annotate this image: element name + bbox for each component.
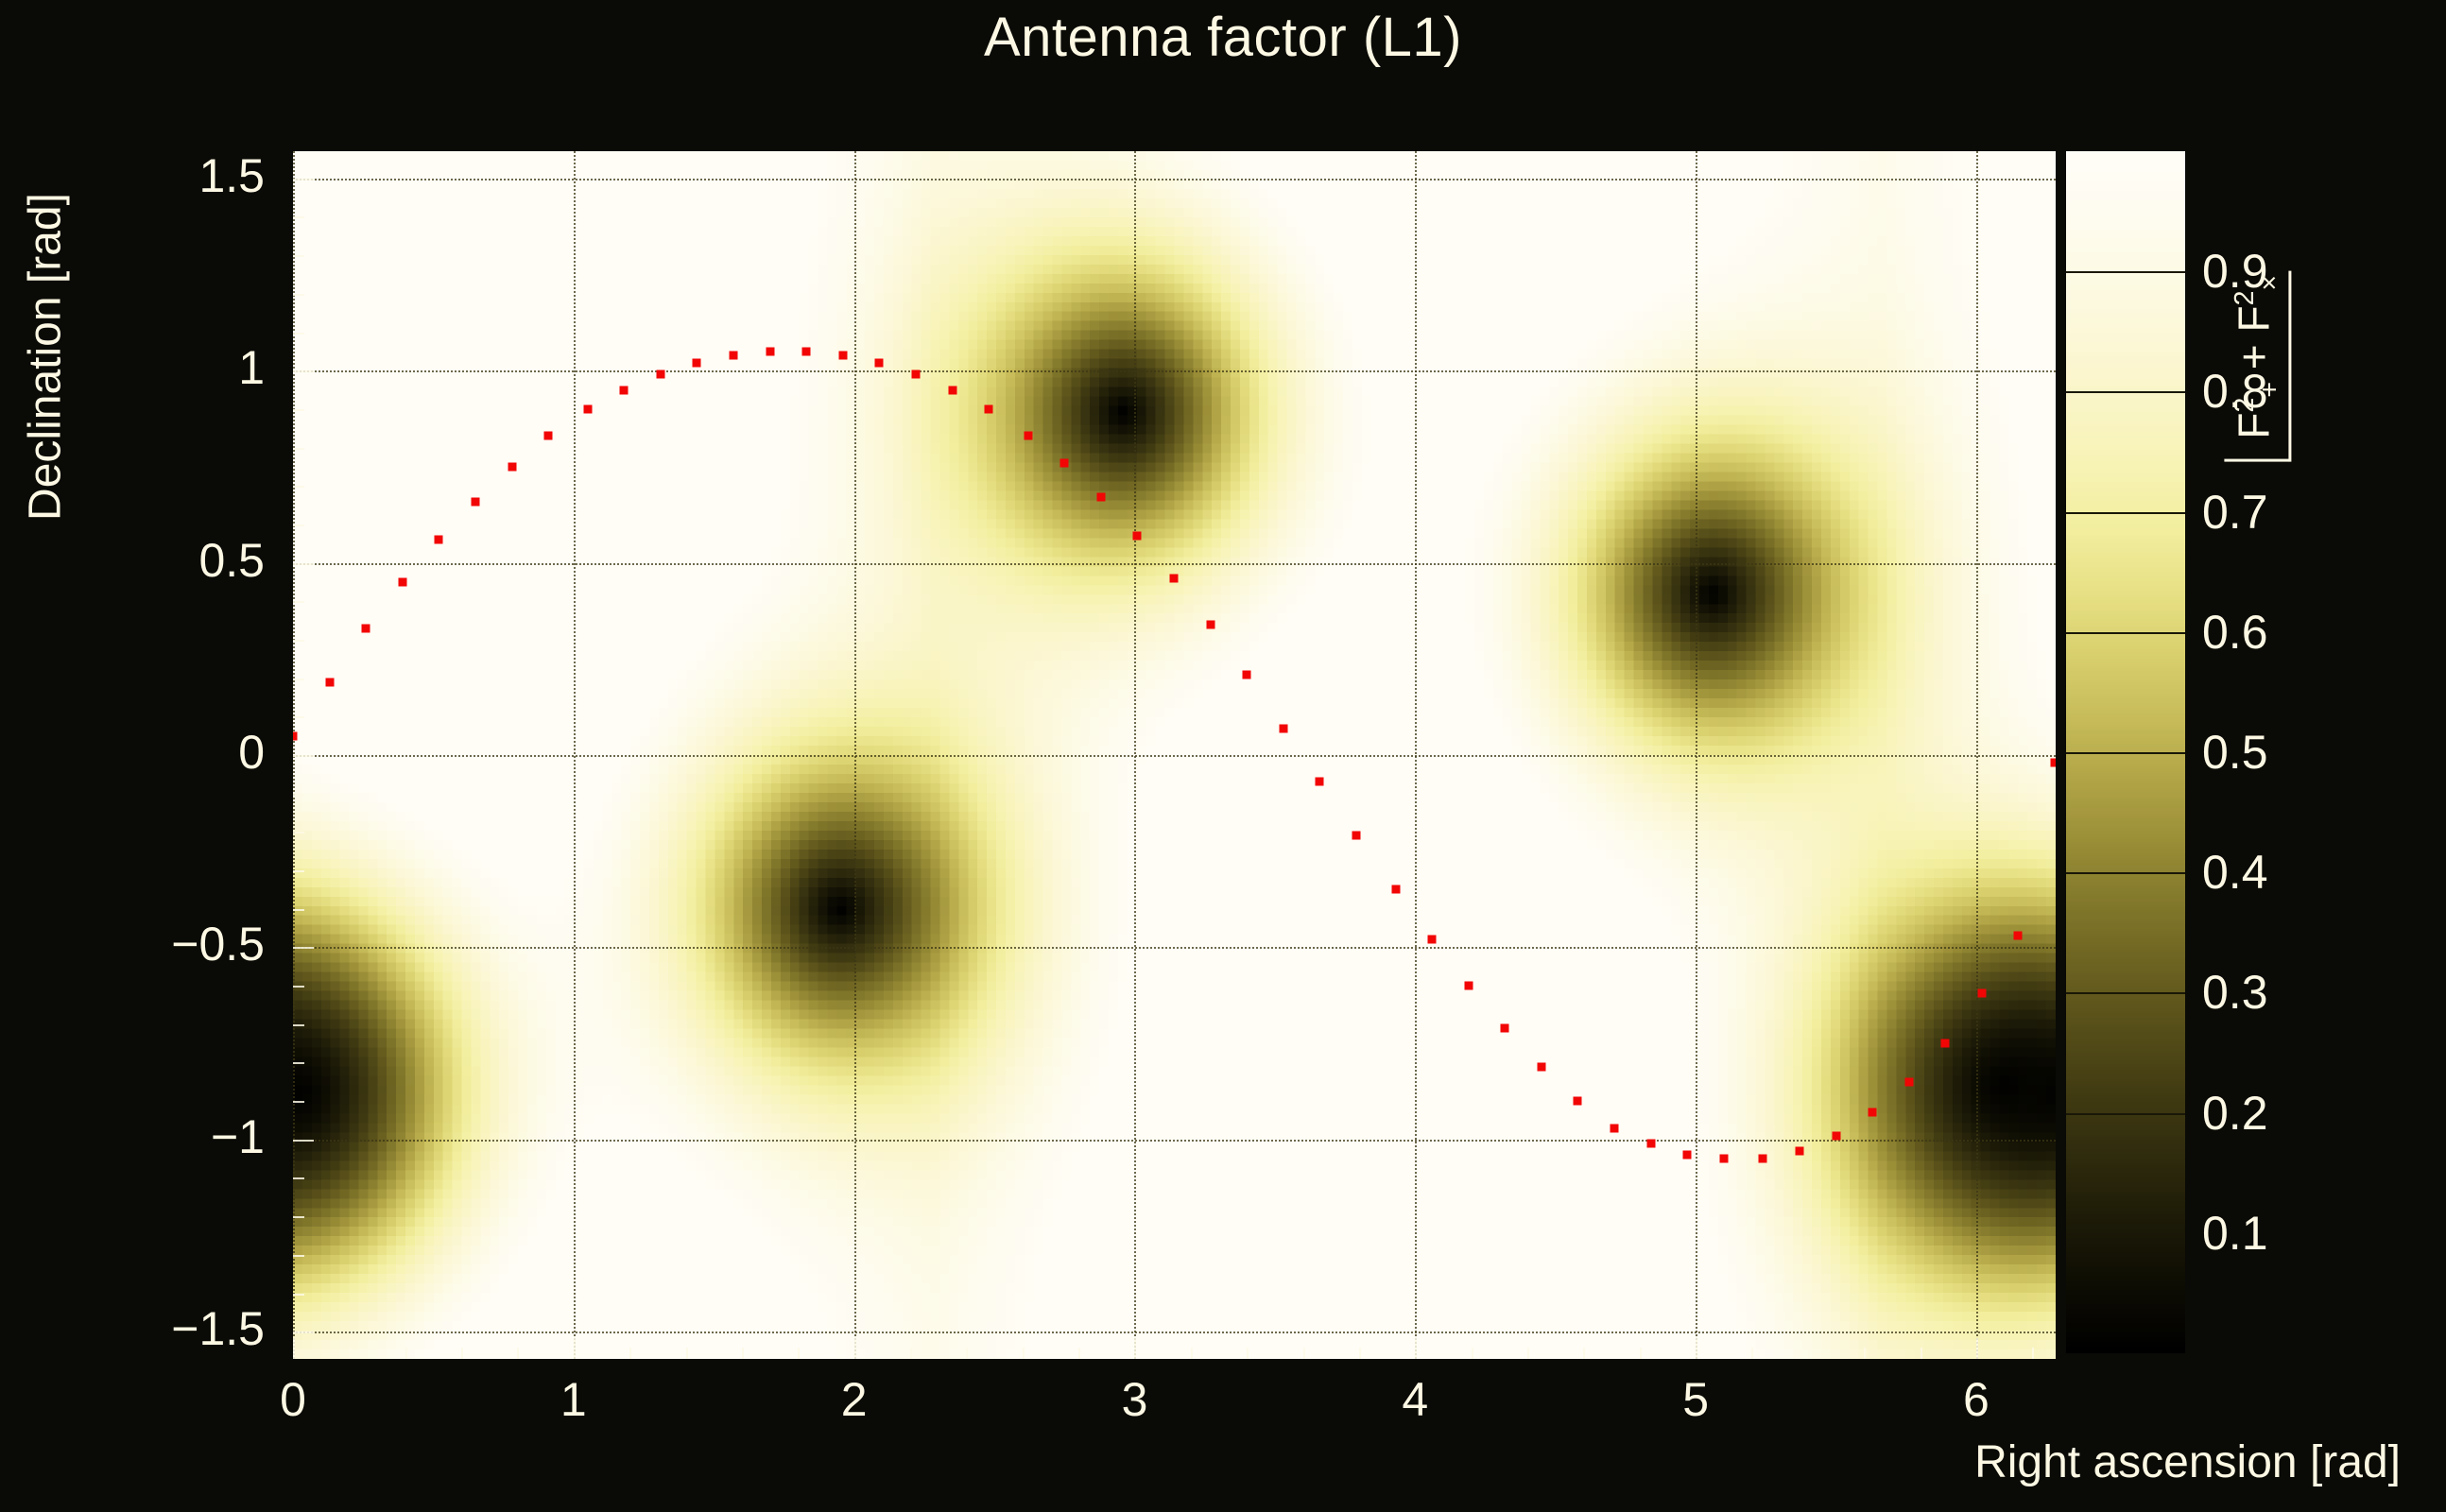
y-tick-minor (293, 1255, 304, 1257)
y-tick-minor (293, 255, 304, 257)
f-cross-subscript: × (2255, 275, 2285, 291)
curve-point-marker (1683, 1151, 1692, 1160)
curve-point-marker (1096, 493, 1105, 502)
curve-point-marker (1501, 1023, 1509, 1032)
y-tick-minor (293, 1101, 304, 1103)
curve-point-marker (1428, 936, 1437, 944)
y-tick-minor (293, 716, 304, 718)
x-tick-minor (1808, 1348, 1810, 1359)
curve-point-marker (398, 577, 406, 586)
x-tick-minor (1078, 1348, 1080, 1359)
curve-point-marker (471, 497, 479, 506)
curve-point-marker (1869, 1108, 1877, 1117)
x-tick-minor (1527, 1348, 1529, 1359)
x-tick-minor (1640, 1348, 1642, 1359)
curve-point-marker (693, 359, 701, 368)
x-tick-minor (1247, 1348, 1249, 1359)
curve-point-marker (730, 351, 738, 359)
x-tick-major (854, 1338, 856, 1359)
x-tick-minor (2032, 1348, 2034, 1359)
y-axis-title: Declination [rad] (20, 112, 72, 603)
x-tick-minor (686, 1348, 688, 1359)
curve-point-marker (1646, 1139, 1655, 1147)
colorbar-tick (2066, 512, 2185, 514)
curve-point-marker (875, 359, 884, 368)
colorbar-tick-label: 0.6 (2202, 605, 2268, 660)
curve-point-marker (656, 370, 664, 379)
colorbar-tick (2066, 1113, 2185, 1115)
x-axis-tick-label: 2 (798, 1372, 911, 1427)
y-axis-tick-label: −1 (76, 1109, 265, 1164)
curve-point-marker (1060, 458, 1069, 467)
y-tick-major (293, 755, 314, 757)
curve-point-marker (2051, 759, 2056, 767)
curve-point-marker (1611, 1124, 1619, 1132)
x-tick-major (1134, 1338, 1136, 1359)
curve-point-marker (1537, 1062, 1545, 1071)
x-tick-minor (966, 1348, 968, 1359)
colorbar-tick-label: 0.7 (2202, 485, 2268, 540)
curve-point-marker (1719, 1155, 1728, 1163)
y-tick-minor (293, 1177, 304, 1179)
y-tick-minor (293, 409, 304, 411)
x-tick-minor (349, 1348, 351, 1359)
curve-point-marker (1133, 532, 1142, 541)
y-axis-tick-label: 0.5 (76, 533, 265, 588)
x-tick-major (1976, 1338, 1978, 1359)
colorbar-tick-label: 0.4 (2202, 845, 2268, 900)
curve-point-marker (1759, 1155, 1767, 1163)
x-tick-minor (629, 1348, 631, 1359)
x-tick-minor (1751, 1348, 1753, 1359)
colorbar-tick (2066, 632, 2185, 634)
x-axis-tick-label: 4 (1358, 1372, 1472, 1427)
curve-point-marker (802, 347, 811, 355)
curve-point-marker (985, 404, 993, 413)
f-plus-exponent: 2 (2230, 398, 2260, 413)
x-tick-minor (1303, 1348, 1305, 1359)
x-tick-minor (1359, 1348, 1361, 1359)
y-tick-minor (293, 679, 304, 680)
y-tick-minor (293, 986, 304, 988)
x-tick-major (1696, 1338, 1697, 1359)
y-axis-tick-label: 1 (76, 340, 265, 395)
curve-point-marker (620, 386, 629, 394)
curve-point-marker (293, 731, 298, 740)
y-axis-tick-label: −0.5 (76, 917, 265, 971)
colorbar-tick (2066, 992, 2185, 994)
y-tick-minor (293, 1062, 304, 1064)
x-tick-minor (1864, 1348, 1866, 1359)
f-cross-term: F (2229, 305, 2278, 332)
x-tick-minor (517, 1348, 519, 1359)
page-title: Antenna factor (L1) (0, 6, 2446, 69)
x-tick-minor (1023, 1348, 1025, 1359)
y-tick-minor (293, 1216, 304, 1218)
f-plus-term: F (2229, 412, 2278, 438)
x-tick-minor (1921, 1348, 1922, 1359)
colorbar-tick (2066, 391, 2185, 393)
y-tick-minor (293, 640, 304, 642)
x-tick-minor (1191, 1348, 1193, 1359)
curve-point-marker (325, 678, 334, 686)
x-tick-minor (1583, 1348, 1585, 1359)
curve-point-marker (1316, 778, 1324, 786)
curve-point-marker (362, 624, 370, 632)
curve-point-marker (1243, 670, 1251, 679)
y-tick-minor (293, 794, 304, 796)
y-tick-minor (293, 333, 304, 335)
curve-point-marker (766, 347, 774, 355)
curve-point-marker (948, 386, 956, 394)
x-tick-minor (461, 1348, 463, 1359)
curve-point-marker (1024, 432, 1032, 440)
y-tick-minor (293, 601, 304, 603)
curve-point-marker (911, 370, 920, 379)
x-tick-major (293, 1338, 295, 1359)
curve-point-marker (1391, 885, 1400, 894)
x-tick-major (1415, 1338, 1417, 1359)
y-axis-tick-label: 0 (76, 725, 265, 780)
plus-operator: + (2229, 344, 2278, 369)
y-tick-major (293, 563, 314, 565)
curve-point-marker (1464, 982, 1473, 990)
x-tick-minor (742, 1348, 744, 1359)
y-tick-minor (293, 1294, 304, 1296)
x-axis-tick-label: 3 (1077, 1372, 1191, 1427)
x-tick-minor (798, 1348, 800, 1359)
colorbar-tick-label: 0.5 (2202, 725, 2268, 780)
y-tick-minor (293, 486, 304, 488)
colorbar-tick (2066, 1233, 2185, 1235)
x-axis-tick-label: 1 (517, 1372, 630, 1427)
x-tick-major (574, 1338, 576, 1359)
y-tick-major (293, 1332, 314, 1333)
y-tick-minor (293, 1024, 304, 1026)
curve-point-marker (2014, 932, 2023, 940)
y-tick-minor (293, 448, 304, 450)
colorbar-tick-label: 0.3 (2202, 965, 2268, 1020)
colorbar-tick (2066, 752, 2185, 754)
x-tick-minor (910, 1348, 912, 1359)
colorbar-tick (2066, 271, 2185, 273)
x-tick-minor (1472, 1348, 1473, 1359)
y-tick-minor (293, 870, 304, 872)
curve-point-marker (1795, 1147, 1803, 1156)
y-axis-tick-label: −1.5 (76, 1301, 265, 1356)
curve-point-marker (1904, 1077, 1913, 1086)
curve-point-marker (1352, 832, 1360, 840)
sqrt-radical: F2+ + F2× (2222, 271, 2295, 462)
curve-point-marker (435, 536, 443, 544)
curve-point-marker (1206, 620, 1214, 628)
curve-point-marker (838, 351, 847, 359)
x-axis-tick-label: 0 (236, 1372, 350, 1427)
root-canvas: Antenna factor (L1) 0123456 1.510.50−0.5… (0, 0, 2446, 1512)
y-tick-major (293, 947, 314, 949)
colorbar-tick-label: 0.2 (2202, 1086, 2268, 1141)
x-axis-tick-label: 5 (1639, 1372, 1752, 1427)
y-tick-minor (293, 216, 304, 218)
y-tick-major (293, 1140, 314, 1142)
curve-point-marker (1977, 989, 1986, 998)
curve-point-marker (1832, 1131, 1840, 1140)
y-tick-major (293, 370, 314, 372)
colorbar-tick (2066, 872, 2185, 874)
y-tick-minor (293, 909, 304, 911)
x-axis-tick-label: 6 (1920, 1372, 2033, 1427)
f-plus-subscript: + (2255, 382, 2285, 398)
curve-point-marker (544, 432, 553, 440)
curve-point-marker (1170, 574, 1179, 582)
y-tick-minor (293, 294, 304, 296)
heatmap-image (293, 151, 2056, 1359)
x-tick-minor (405, 1348, 407, 1359)
curve-point-marker (583, 404, 592, 413)
x-axis-title: Right ascension [rad] (1974, 1436, 2401, 1488)
curve-point-marker (508, 462, 516, 471)
y-axis-tick-label: 1.5 (76, 148, 265, 203)
y-tick-minor (293, 524, 304, 526)
curve-point-marker (1574, 1097, 1582, 1106)
curve-point-marker (1279, 724, 1287, 732)
y-tick-major (293, 179, 314, 180)
heatmap-plot-area[interactable] (293, 151, 2056, 1359)
colorbar-title: F2+ + F2× (2202, 123, 2316, 444)
colorbar-tick-label: 0.1 (2202, 1206, 2268, 1261)
f-cross-exponent: 2 (2230, 291, 2260, 306)
y-tick-minor (293, 832, 304, 833)
curve-point-marker (1941, 1039, 1950, 1048)
